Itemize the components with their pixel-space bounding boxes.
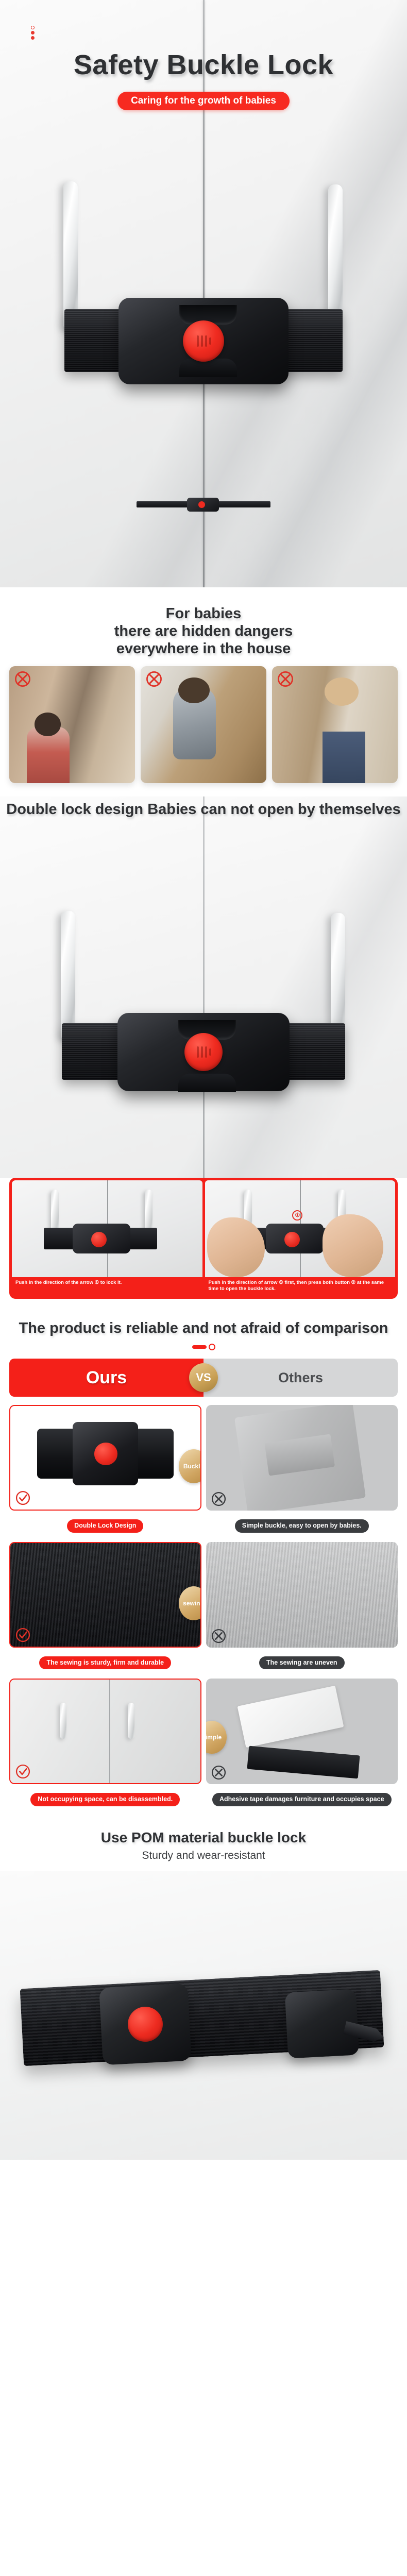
pom-subheading: Sturdy and wear-resistant bbox=[0, 1850, 407, 1871]
x-circle-icon bbox=[14, 670, 31, 688]
note-pill-buckle: Buckle bbox=[179, 1449, 201, 1483]
hazard-photo-toddler-in-kitchen bbox=[141, 666, 266, 783]
button-glyph-icon bbox=[193, 335, 214, 347]
caption-ours-buckle: Double Lock Design bbox=[67, 1519, 143, 1533]
check-circle-icon bbox=[15, 1627, 31, 1643]
caption-others-install: Adhesive tape damages furniture and occu… bbox=[212, 1793, 392, 1806]
buckle-notch-bottom bbox=[178, 1074, 236, 1092]
cabinet-seam bbox=[203, 796, 205, 1178]
red-release-button bbox=[183, 320, 224, 362]
comparison-row-buckle: Buckle bbox=[0, 1405, 407, 1515]
danger-heading: For babies there are hidden dangers ever… bbox=[0, 587, 407, 664]
danger-heading-line-1: For babies bbox=[0, 605, 407, 622]
comparison-heading-line-1: The product is reliable and bbox=[19, 1320, 209, 1336]
decorative-dots-icon bbox=[31, 26, 35, 40]
product-thumbnail bbox=[137, 495, 270, 514]
hero-tagline-badge: Caring for the growth of babies bbox=[117, 92, 290, 110]
danger-heading-line-3: everywhere in the house bbox=[0, 640, 407, 657]
hero-banner: Safety Buckle Lock Caring for the growth… bbox=[0, 0, 407, 587]
button-glyph-icon bbox=[193, 1046, 214, 1058]
comparison-cell-others-sewing bbox=[206, 1542, 398, 1648]
hazard-photo-baby-at-cupboard bbox=[9, 666, 135, 783]
product-buckle-female bbox=[99, 1984, 192, 2065]
x-circle-icon bbox=[211, 1765, 227, 1781]
comparison-captions-buckle: Double Lock Design Simple buckle, easy t… bbox=[0, 1515, 407, 1542]
x-circle-icon bbox=[211, 1628, 227, 1644]
comparison-cell-ours-sewing: sewing bbox=[9, 1542, 201, 1648]
comparison-cell-ours-install bbox=[9, 1679, 201, 1784]
x-circle-icon bbox=[211, 1491, 227, 1507]
versus-bar: Ours Others VS bbox=[0, 1359, 407, 1397]
double-lock-banner: Double lock design Babies can not open b… bbox=[0, 796, 407, 1178]
comparison-row-install: Simple bbox=[0, 1679, 407, 1788]
caption-ours-sewing: The sewing is sturdy, firm and durable bbox=[39, 1656, 171, 1670]
buckle-notch-bottom bbox=[179, 359, 237, 377]
x-circle-icon bbox=[145, 670, 163, 688]
comparison-captions-sewing: The sewing is sturdy, firm and durable T… bbox=[0, 1652, 407, 1679]
comparison-cell-ours-buckle: Buckle bbox=[9, 1405, 201, 1511]
vs-badge: VS bbox=[189, 1363, 218, 1392]
arrow-marker-icon: ① bbox=[292, 1210, 302, 1221]
hazard-photo-girl-opening-door bbox=[272, 666, 398, 783]
caption-ours-install: Not occupying space, can be disassembled… bbox=[30, 1793, 180, 1806]
hand-right bbox=[323, 1214, 383, 1277]
hand-left bbox=[207, 1217, 265, 1277]
instruction-step-lock: Push in the direction of the arrow ① to … bbox=[12, 1180, 202, 1297]
comparison-row-sewing: sewing bbox=[0, 1542, 407, 1652]
instruction-image-unlock: ① bbox=[205, 1180, 396, 1277]
double-lock-heading-line-3: by themselves bbox=[298, 801, 401, 818]
comparison-cell-others-buckle bbox=[206, 1405, 398, 1511]
double-lock-heading: Double lock design Babies can not open b… bbox=[0, 801, 407, 819]
danger-heading-line-2: there are hidden dangers bbox=[0, 622, 407, 640]
product-buckle bbox=[117, 1013, 290, 1091]
product-detail-page: Safety Buckle Lock Caring for the growth… bbox=[0, 0, 407, 2160]
instruction-grid: Push in the direction of the arrow ① to … bbox=[9, 1178, 398, 1299]
others-label: Others bbox=[203, 1359, 398, 1397]
pom-heading: Use POM material buckle lock bbox=[0, 1816, 407, 1850]
comparison-captions-install: Not occupying space, can be disassembled… bbox=[0, 1788, 407, 1816]
x-circle-icon bbox=[277, 670, 294, 688]
instruction-image-lock bbox=[12, 1180, 202, 1277]
cabinet-handle-left bbox=[63, 181, 78, 331]
cabinet-handle-right bbox=[331, 913, 345, 1042]
check-circle-icon bbox=[15, 1764, 31, 1780]
double-lock-heading-line-1: Double lock design bbox=[6, 801, 143, 818]
note-pill-simple: Simple bbox=[206, 1721, 227, 1754]
comparison-heading: The product is reliable and not afraid o… bbox=[0, 1304, 407, 1337]
instruction-caption-unlock: Push in the direction of arrow ① first, … bbox=[205, 1277, 396, 1297]
red-release-button bbox=[184, 1033, 223, 1071]
hazard-photo-row bbox=[0, 664, 407, 796]
product-buckle bbox=[118, 298, 289, 384]
caption-others-sewing: The sewing are uneven bbox=[259, 1656, 345, 1670]
page-title: Safety Buckle Lock bbox=[0, 49, 407, 81]
cabinet-handle-left bbox=[61, 911, 75, 1041]
pom-product-image bbox=[0, 1871, 407, 2160]
comparison-heading-line-2: not afraid of comparison bbox=[213, 1320, 388, 1336]
comparison-cell-others-install: Simple bbox=[206, 1679, 398, 1784]
caption-others-buckle: Simple buckle, easy to open by babies. bbox=[235, 1519, 369, 1533]
red-release-button bbox=[127, 2006, 163, 2042]
check-circle-icon bbox=[15, 1490, 31, 1506]
section-divider bbox=[0, 1337, 407, 1359]
instruction-caption-lock: Push in the direction of the arrow ① to … bbox=[12, 1277, 202, 1290]
double-lock-heading-line-2: Babies can not open bbox=[147, 801, 294, 818]
ours-label: Ours bbox=[9, 1359, 203, 1397]
instruction-step-unlock: ① Push in the direction of arrow ① first… bbox=[202, 1180, 396, 1297]
instruction-panels: Push in the direction of the arrow ① to … bbox=[0, 1178, 407, 1304]
